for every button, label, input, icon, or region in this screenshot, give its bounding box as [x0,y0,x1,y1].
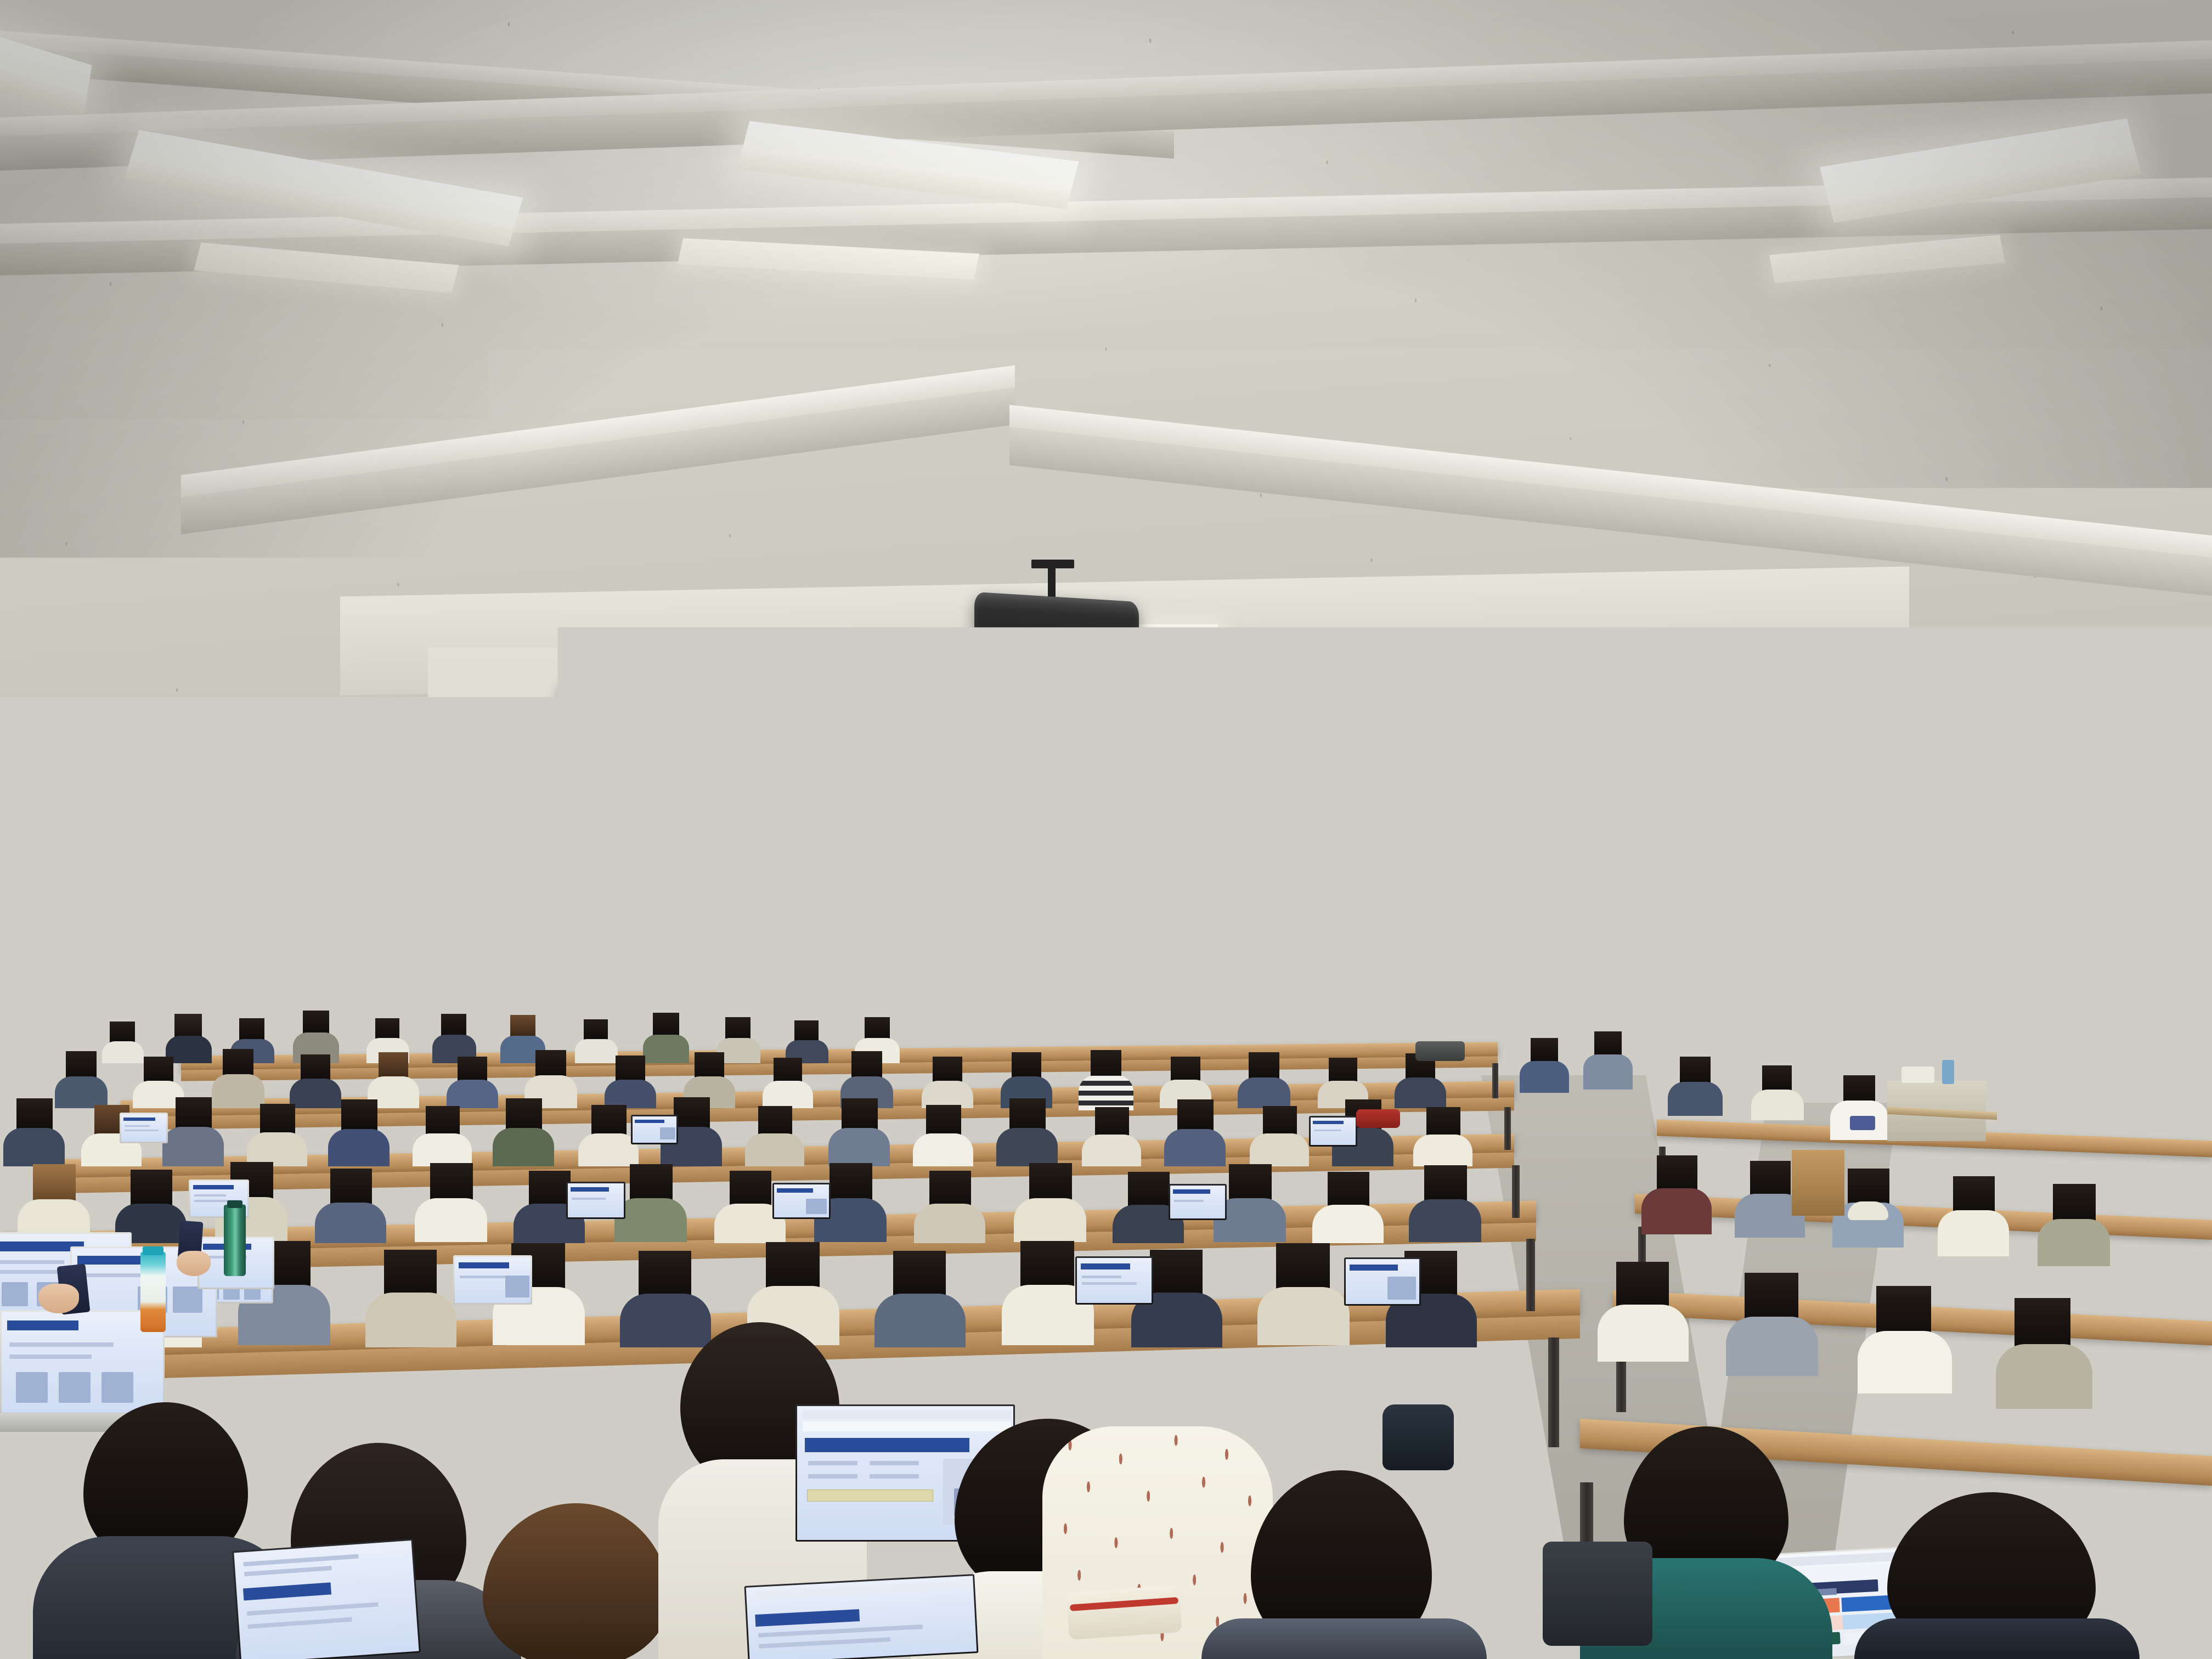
student-body [922,1081,973,1108]
bench-tap [1107,997,1111,1016]
ceiling-speaker-left-small [561,680,634,726]
student-body [620,1294,711,1347]
student-body [447,1080,498,1108]
transom-window-pane [1764,884,1824,910]
lecture-hall-photo: 株式 会社 志 多 組 宮崎大学工学部 キャリア講座 2025年5月16日 [0,0,2212,1659]
chalk-holder-blue-2 [1378,981,1401,989]
student-body [1641,1188,1712,1234]
student-body [328,1129,390,1166]
student-body [1312,1205,1384,1243]
pencil-case [1066,1585,1182,1640]
student-body [365,1293,456,1347]
student-body [575,1039,618,1063]
slide-date: 2025年5月16日 [1366,933,1427,945]
slide-title-line2: キャリア講座 [1284,899,1399,921]
company-logo-prefix: 株式 会社 [1301,839,1317,855]
student-body [1858,1331,1952,1393]
student-body [3,1128,65,1166]
presentation-slide: 株式 会社 志 多 組 宮崎大学工学部 キャリア講座 2025年5月16日 [1262,817,1536,972]
student-laptop [120,1113,168,1143]
hand-holding-phone-left [38,1284,79,1313]
ceiling-dome-speaker-right [1830,845,1868,861]
student-body [996,1128,1058,1166]
desk-leg-1 [1492,1063,1498,1098]
window-pane-far-1 [588,854,687,917]
ceiling-speaker-pole [1048,566,1056,598]
student-body [914,1204,985,1243]
tea-bottle-cap [143,1246,163,1255]
student-body [874,1294,966,1347]
suitcase-aisle [1543,1542,1652,1646]
speaker-glasses [1178,939,1198,944]
window-pane-1 [0,819,88,900]
student-body [605,1080,656,1108]
student-body [578,1133,639,1166]
slide-header-note [1354,820,1388,825]
student-body [162,1127,224,1166]
journey-tee-print [1850,1116,1875,1130]
front-wall-panel-slim [742,845,810,894]
equipment-cart-device [1019,982,1058,998]
student-laptop [1309,1116,1357,1147]
desk-leg-3 [1512,1165,1520,1218]
student-body [315,1203,386,1243]
ceiling-speaker [974,592,1139,721]
student-laptop [453,1255,532,1305]
side-table-items [1901,1066,1934,1083]
student-body [1238,1077,1290,1108]
student-body [2038,1219,2110,1266]
student-body [415,1198,487,1242]
right-door-glass [1776,966,1881,1063]
desk-leg-4 [1526,1239,1535,1311]
student-body [1938,1210,2009,1256]
student-body [55,1076,108,1108]
student-body [1413,1135,1472,1166]
student-body [1583,1054,1633,1090]
green-water-bottle [224,1205,246,1276]
student-body [763,1081,813,1108]
student-body [212,1074,264,1108]
projector-label [1255,778,1300,785]
student-body [413,1133,472,1166]
student-laptop [566,1182,625,1219]
company-logo-hex-2: 多 [1340,838,1358,856]
desk-leg-5 [1548,1338,1559,1447]
student-body [1520,1061,1569,1093]
speaker-hand-mic [1181,978,1193,991]
foreground-laptop-bottom-1 [232,1539,421,1659]
student-body [1082,1135,1141,1166]
window-pane-right-1 [2093,945,2212,1062]
foreground-student-body-right [1854,1618,2140,1659]
student-body [745,1133,804,1166]
student-body [828,1128,890,1166]
student-laptop [1344,1257,1421,1306]
front-wall-panel-slim-2 [819,846,885,894]
student-body [913,1133,973,1166]
slide-header-badge [1391,819,1407,825]
student-laptop [772,1183,831,1219]
student-body [1250,1133,1309,1166]
assistant-inner-shirt [941,972,953,981]
tea-bottle [140,1252,166,1332]
student-body [1014,1198,1086,1242]
window-pane-4 [0,903,88,1067]
student-body [1395,1077,1446,1108]
red-bag-on-desk [1356,1109,1400,1128]
window-mullion-v1 [89,814,100,1057]
company-logo-mark [1282,839,1298,855]
student-body [290,1079,341,1108]
side-table-bottle [1942,1060,1954,1084]
gray-bag-on-desk [1415,1041,1465,1061]
cart-papers [988,992,1018,1001]
student-laptop [1169,1184,1227,1220]
student-laptop [1075,1256,1153,1305]
student-body [102,1041,144,1063]
student-body [643,1035,689,1063]
company-logo-hex-3: 組 [1358,838,1377,856]
student-body [1996,1344,2092,1409]
company-logo-hex-1: 志 [1321,838,1340,856]
slide-title-line1: 宮崎大学工学部 [1284,876,1418,898]
ceiling-speaker-right-small [1328,687,1404,735]
student-body [493,1128,554,1166]
front-wall-notice [966,894,1003,948]
projector-lens [1312,781,1323,794]
wood-cabinet-right [1792,1150,1844,1216]
foreground-laptop-bottom-2 [744,1574,979,1659]
student-body [1257,1287,1350,1345]
student-body [1164,1129,1226,1166]
student-body [1726,1317,1818,1376]
window-pane-far-3 [588,917,687,983]
foreground-student-body-6 [1201,1618,1487,1659]
curtain-left-1 [110,817,129,1050]
student-body-striped-shirt [1079,1075,1133,1110]
document-stand [1113,980,1143,1016]
speaker-hand-desk [1167,1001,1183,1011]
student-body [1751,1090,1804,1120]
backpack-aisle [1383,1404,1454,1470]
microphone [1183,959,1190,979]
student-body [1409,1199,1481,1242]
green-bottle-cap [227,1200,242,1208]
student-hood [1848,1201,1888,1220]
foreground-laptop-left-3 [0,1310,165,1414]
student-body [247,1132,307,1166]
student-laptop [631,1115,678,1144]
desk-leg-2 [1504,1107,1511,1150]
student-body [1598,1305,1689,1362]
hand-holding-phone-center [177,1251,211,1276]
student-body [1668,1082,1723,1116]
